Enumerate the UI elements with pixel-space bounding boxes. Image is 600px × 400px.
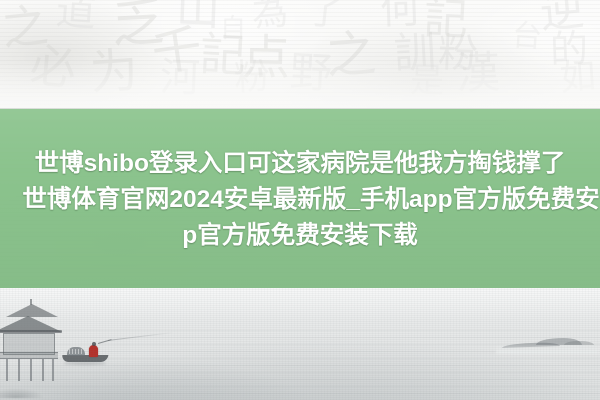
calligraphy-glyph: 記: [199, 31, 247, 79]
calligraphy-glyph: 必: [28, 42, 78, 92]
calligraphy-glyph: 的: [549, 29, 588, 68]
calligraphy-glyph: 如: [559, 59, 597, 97]
fishing-boat: [62, 343, 110, 365]
calligraphy-glyph: 山: [175, 0, 221, 33]
calligraphy-glyph: 逆: [538, 0, 586, 36]
calligraphy-glyph: 粉: [233, 59, 271, 97]
calligraphy-glyph-layer: 之道乏山千記為点自之了何記訓粉逆台的必为河粉野漢是如: [0, 0, 600, 116]
left-bank-foliage: [0, 376, 62, 398]
banner-title-line-3: p官方版免费安装下载: [0, 218, 600, 254]
title-banner: 世博shibo登录入口可这家病院是他我方掏钱撑了 世博体育官网2024安卓最新版…: [0, 109, 600, 288]
calligraphy-glyph: 漢: [455, 51, 501, 97]
calligraphy-glyph: 为: [88, 46, 139, 97]
calligraphy-glyph: 乏: [111, 0, 166, 51]
shore-haze: [496, 344, 600, 354]
calligraphy-glyph: 粉: [437, 33, 478, 74]
calligraphy-glyph: 之: [0, 2, 50, 53]
calligraphy-glyph: 道: [55, 0, 98, 33]
banner-title-line-1: 世博shibo登录入口可这家病院是他我方掏钱撑了: [0, 146, 600, 182]
red-robed-figure: [89, 345, 98, 357]
distant-shoreline: [502, 336, 594, 352]
calligraphy-glyph: 訓: [393, 31, 437, 75]
ink-wash-landscape: [0, 288, 600, 400]
boat-canopy: [67, 347, 85, 356]
calligraphy-glyph: 河: [159, 57, 200, 98]
calligraphy-glyph: 是: [410, 64, 445, 99]
calligraphy-glyph: 野: [289, 51, 333, 95]
calligraphy-glyph: 何: [379, 0, 420, 31]
pavilion-railing: [0, 352, 58, 359]
calligraphy-glyph: 了: [304, 0, 346, 32]
boat-wake: [108, 332, 174, 341]
calligraphy-glyph: 為: [250, 0, 289, 34]
banner-title: 世博shibo登录入口可这家病院是他我方掏钱撑了 世博体育官网2024安卓最新版…: [0, 144, 600, 254]
figure-head: [92, 342, 96, 346]
banner-title-line-2: 世博体育官网2024安卓最新版_手机app官方版免费安: [22, 182, 600, 218]
calligraphy-glyph: 之: [324, 28, 377, 81]
calligraphy-glyph: 千: [149, 23, 205, 79]
calligraphy-glyph: 点: [242, 34, 291, 83]
boat-hull: [62, 355, 109, 362]
boat-reflection: [64, 362, 106, 365]
image-canvas: 之道乏山千記為点自之了何記訓粉逆台的必为河粉野漢是如 世博shibo登录入口可这…: [0, 0, 600, 400]
calligraphy-glyph: 台: [511, 21, 543, 53]
calligraphy-glyph: 記: [423, 0, 469, 43]
calligraphy-glyph: 自: [220, 16, 246, 42]
